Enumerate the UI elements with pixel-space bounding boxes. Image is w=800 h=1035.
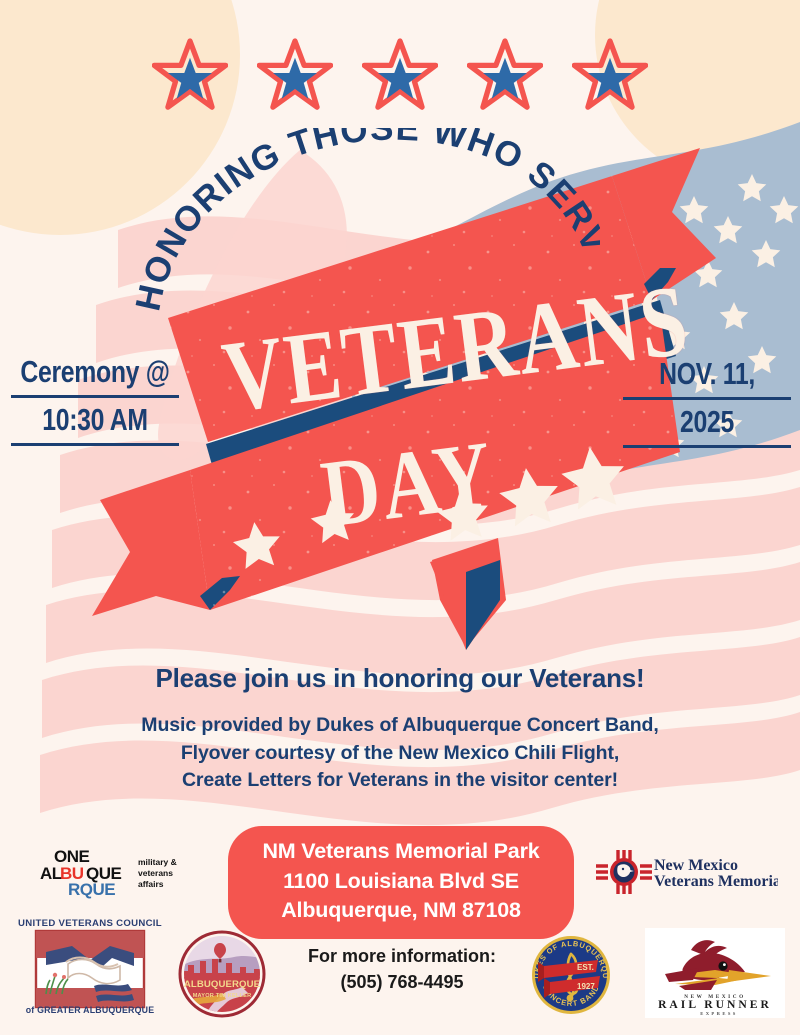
banner-word-day: DAY <box>316 421 500 551</box>
uvc-top-text: UNITED VETERANS COUNCIL <box>18 918 162 929</box>
flyer-canvas: HONORING THOSE WHO SERVED Ceremony @ 10:… <box>0 0 800 1035</box>
date-line-1: NOV. 11, <box>623 352 791 400</box>
uvc-emblem <box>36 931 144 1007</box>
dukes-est: EST. <box>577 963 594 972</box>
dukes-year: 1927 <box>577 982 595 991</box>
detail-line-3: Create Letters for Veterans in the visit… <box>0 767 800 795</box>
star-4-icon <box>467 38 543 112</box>
uvc-bottom-text: of GREATER ALBUQUERQUE <box>26 1005 155 1015</box>
detail-line-2: Flyover courtesy of the New Mexico Chili… <box>0 740 800 768</box>
one-abq-tag-line-2: veterans <box>138 868 173 878</box>
contact-block: For more information: (505) 768-4495 <box>262 944 542 995</box>
logo-one-albuquerque: ONE AL BU QUE RQUE military & veterans a… <box>38 845 203 901</box>
logo-rail-runner-express: NEW MEXICO RAIL RUNNER EXPRESS <box>645 928 785 1018</box>
invitation-headline: Please join us in honoring our Veterans! <box>0 663 800 694</box>
logo-albuquerque-mayor-seal: ALBUQUERQUE MAYOR TIM KELLER <box>176 929 268 1019</box>
railrunner-subline: EXPRESS <box>700 1011 737 1016</box>
nmvm-line-2: Veterans Memorial <box>654 873 778 890</box>
ceremony-time-label: Ceremony @ 10:30 AM <box>11 350 179 446</box>
one-abq-word-al: AL <box>40 864 62 883</box>
contact-phone: (505) 768-4495 <box>262 970 542 996</box>
star-3-icon <box>362 38 438 112</box>
body-copy: Please join us in honoring our Veterans!… <box>0 663 800 795</box>
address-line-2: 1100 Louisiana Blvd SE <box>238 867 564 897</box>
address-line-3: Albuquerque, NM 87108 <box>238 896 564 926</box>
one-abq-tag-line-1: military & <box>138 857 177 867</box>
logo-nm-veterans-memorial: New Mexico Veterans Memorial <box>592 848 778 896</box>
star-5-icon <box>572 38 648 112</box>
star-2-icon <box>257 38 333 112</box>
one-abq-word-rque: RQUE <box>68 880 115 899</box>
contact-label: For more information: <box>262 944 542 970</box>
event-date-label: NOV. 11, 2025 <box>623 352 791 448</box>
detail-line-1: Music provided by Dukes of Albuquerque C… <box>0 712 800 740</box>
date-line-2: 2025 <box>623 400 791 448</box>
one-abq-tag-line-3: affairs <box>138 879 164 889</box>
nmvm-line-1: New Mexico <box>654 857 738 874</box>
star-1-icon <box>152 38 228 112</box>
mayor-seal-city: ALBUQUERQUE <box>184 979 261 990</box>
logo-united-veterans-council: UNITED VETERANS COUNCIL of GREAT <box>16 912 164 1016</box>
address-line-1: NM Veterans Memorial Park <box>238 837 564 867</box>
railrunner-name: RAIL RUNNER <box>658 998 772 1011</box>
decorative-stars-row <box>0 38 800 112</box>
mayor-seal-mayor: MAYOR TIM KELLER <box>193 993 252 999</box>
ceremony-line-2: 10:30 AM <box>11 398 179 446</box>
ceremony-line-1: Ceremony @ <box>11 350 179 398</box>
venue-address-pill: NM Veterans Memorial Park 1100 Louisiana… <box>228 826 574 939</box>
logo-dukes-concert-band: DUKES OF ALBUQUERQUE CONCERT BAND EST. 1… <box>530 934 612 1016</box>
